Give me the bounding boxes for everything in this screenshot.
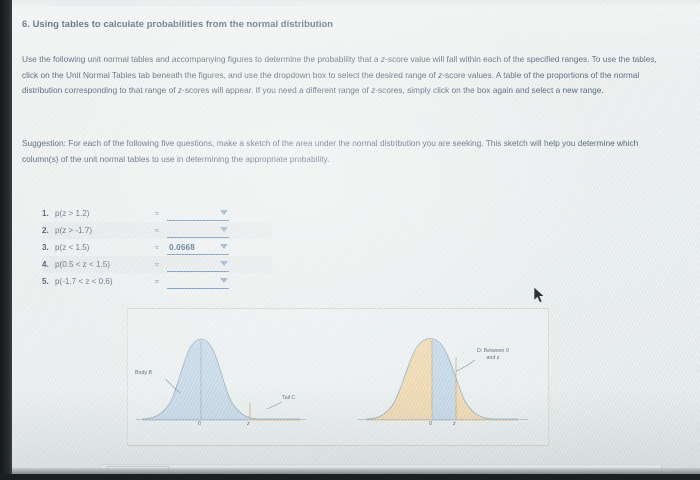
chevron-down-icon[interactable] (220, 210, 228, 215)
question-expression: p(0.5 < z < 1.5) (55, 260, 147, 269)
answer-dropdown[interactable] (167, 224, 229, 238)
approx-equals-symbol: ≈ (147, 260, 167, 269)
answer-dropdown[interactable] (167, 275, 229, 289)
question-number: 4. (42, 260, 55, 269)
answer-dropdown[interactable]: 0.0668 (167, 241, 229, 255)
intro-paragraph: Use the following unit normal tables and… (22, 52, 670, 99)
answer-dropdown[interactable] (167, 207, 229, 221)
browser-top-strip (12, 0, 700, 9)
chevron-down-icon[interactable] (220, 244, 228, 249)
question-number: 5. (42, 277, 55, 286)
figures-panel: Body B Tail C 0 z (127, 308, 549, 446)
question-row: 2.p(z > -1.7)≈ (42, 222, 272, 239)
question-expression: p(z > 1.2) (55, 209, 147, 218)
leader-line-between (456, 360, 475, 371)
bottom-bezel (0, 474, 700, 480)
lesson-content: 6. Using tables to calculate probabiliti… (12, 9, 700, 474)
photo-frame: 6. Using tables to calculate probabiliti… (0, 0, 700, 480)
question-number: 2. (42, 226, 55, 235)
approx-equals-symbol: ≈ (147, 226, 167, 235)
label-tail-c: Tail C (282, 395, 295, 402)
question-expression: p(z > -1.7) (55, 226, 147, 235)
question-row: 5.p(-1.7 < z < 0.6)≈ (42, 273, 272, 290)
label-between-0-and-z: D: Between 0 and z (477, 348, 509, 362)
tick-label-zero-left: 0 (198, 421, 201, 428)
questions-list: 1.p(z > 1.2)≈2.p(z > -1.7)≈3.p(z < 1.5)≈… (42, 205, 272, 290)
leader-line-tail (267, 402, 282, 409)
screen-area: 6. Using tables to calculate probabiliti… (12, 0, 700, 474)
suggestion-paragraph: Suggestion: For each of the following fi… (22, 136, 662, 167)
approx-equals-symbol: ≈ (147, 209, 167, 218)
question-expression: p(-1.7 < z < 0.6) (55, 277, 147, 286)
page-title: 6. Using tables to calculate probabiliti… (22, 18, 333, 29)
chart-between-svg (356, 315, 542, 439)
chart-body-tail-svg (134, 315, 330, 439)
question-number: 1. (42, 209, 55, 218)
chart-between: D: Between 0 and z 0 z (356, 315, 542, 439)
label-body-b: Body B (135, 370, 152, 377)
tick-label-z-right: z (453, 421, 456, 428)
chevron-down-icon[interactable] (220, 261, 228, 266)
question-expression: p(z < 1.5) (55, 243, 147, 252)
approx-equals-symbol: ≈ (147, 277, 167, 286)
browser-tab[interactable] (50, 1, 300, 6)
answer-dropdown[interactable] (167, 258, 229, 272)
tick-label-z-left: z (247, 421, 250, 428)
question-row: 4.p(0.5 < z < 1.5)≈ (42, 256, 272, 273)
left-bezel (0, 0, 12, 480)
approx-equals-symbol: ≈ (147, 243, 167, 252)
answer-value: 0.0668 (167, 243, 195, 252)
chevron-down-icon[interactable] (220, 227, 228, 232)
chart-body-tail: Body B Tail C 0 z (134, 315, 330, 439)
question-number: 3. (42, 243, 55, 252)
question-row: 1.p(z > 1.2)≈ (42, 205, 272, 222)
question-row: 3.p(z < 1.5)≈0.0668 (42, 239, 272, 256)
chevron-down-icon[interactable] (220, 278, 228, 283)
tick-label-zero-right: 0 (429, 421, 432, 428)
